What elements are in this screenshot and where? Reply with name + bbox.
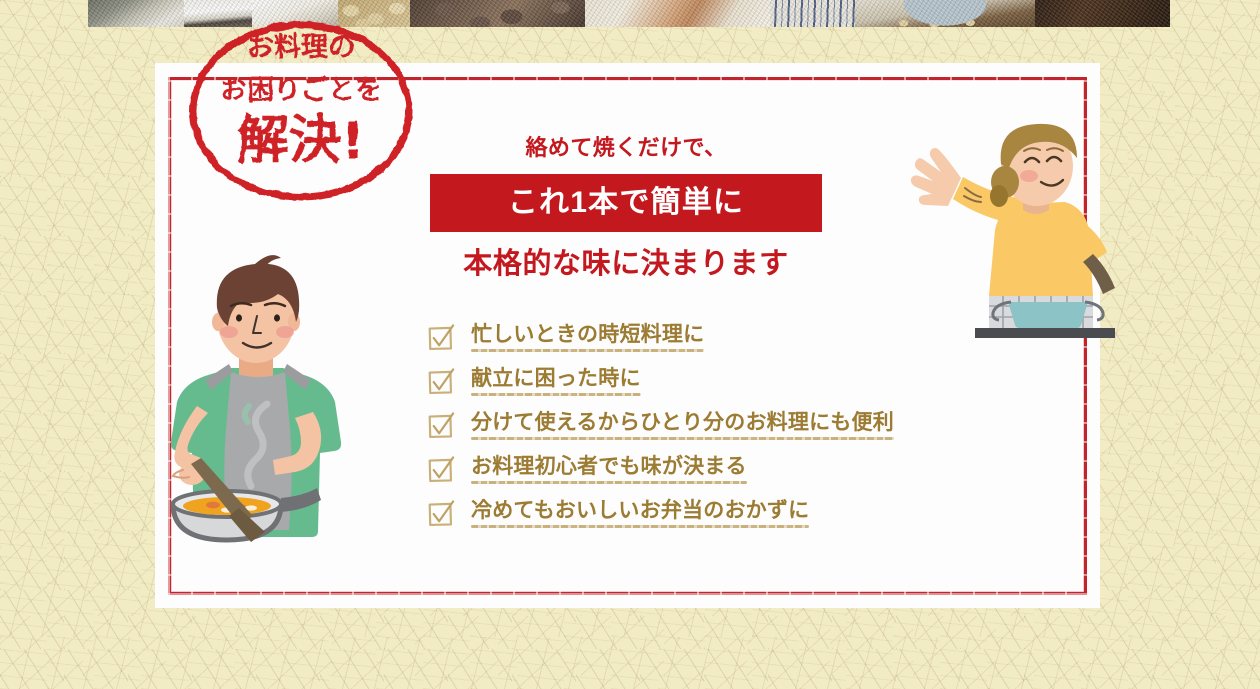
benefit-checklist: 忙しいときの時短料理に 献立に困った時に 分けて使えるからひとり分のお料理にも便… [427, 322, 894, 528]
checklist-item: 忙しいときの時短料理に [427, 322, 894, 352]
checklist-item-label-wrap: 分けて使えるからひとり分のお料理にも便利 [471, 410, 894, 440]
checklist-item-label-wrap: お料理初心者でも味が決まる [471, 454, 747, 484]
checklist-underline [471, 393, 641, 396]
checklist-item-label: 分けて使えるからひとり分のお料理にも便利 [471, 411, 894, 434]
checklist-item-label-wrap: 忙しいときの時短料理に [471, 322, 704, 352]
photo-tile-striped-fabric [770, 0, 855, 27]
checklist-item-label: 忙しいときの時短料理に [471, 323, 704, 346]
solve-stamp: お料理の お困りごとを 解決! [180, 16, 423, 206]
photo-tile-kura-storehouse [88, 0, 184, 27]
checklist-item-label-wrap: 献立に困った時に [471, 366, 641, 396]
male-chef-illustration [135, 246, 385, 546]
stamp-line-1: お料理の [247, 32, 355, 63]
checklist-item-label: お料理初心者でも味が決まる [471, 455, 747, 478]
photo-tile-dark-soil [1035, 0, 1170, 27]
checklist-item: 分けて使えるからひとり分のお料理にも便利 [427, 410, 894, 440]
checklist-underline [471, 349, 704, 352]
stamp-line-2: お困りごとを [220, 74, 382, 106]
photo-tile-koji-malt [410, 0, 585, 27]
headline-block: 絡めて焼くだけで、 これ1本で簡単に 本格的な味に決まります [430, 134, 822, 282]
checklist-item: 献立に困った時に [427, 366, 894, 396]
checklist-item: お料理初心者でも味が決まる [427, 454, 894, 484]
checkbox-checked-icon [427, 413, 454, 440]
checklist-underline [471, 525, 809, 528]
female-chef-illustration [865, 126, 1115, 361]
checkbox-checked-icon [427, 369, 454, 396]
photo-tile-pot-with-beans [855, 0, 1035, 27]
checklist-underline [471, 481, 747, 484]
checklist-underline [471, 437, 894, 440]
checkbox-checked-icon [427, 501, 454, 528]
headline-subline: 本格的な味に決まります [430, 246, 822, 282]
checkbox-checked-icon [427, 457, 454, 484]
checkbox-checked-icon [427, 325, 454, 352]
stamp-line-3: 解決! [237, 111, 365, 171]
checklist-item-label-wrap: 冷めてもおいしいお弁当のおかずに [471, 498, 809, 528]
headline-kicker: 絡めて焼くだけで、 [430, 134, 822, 162]
checklist-item-label: 献立に困った時に [471, 367, 641, 390]
checklist-item-label: 冷めてもおいしいお弁当のおかずに [471, 499, 809, 522]
photo-tile-hand-mixing-rice [585, 0, 770, 27]
headline-banner: これ1本で簡単に [430, 174, 822, 232]
checklist-item: 冷めてもおいしいお弁当のおかずに [427, 498, 894, 528]
